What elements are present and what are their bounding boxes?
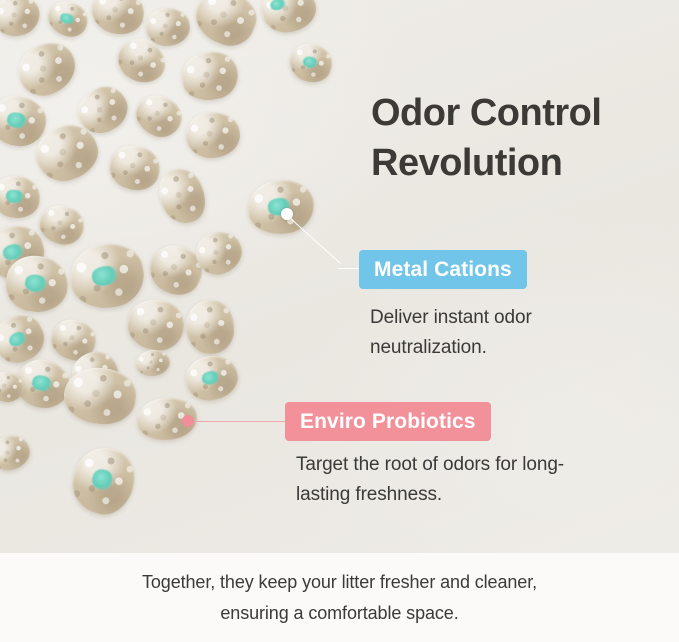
litter-granule xyxy=(0,0,44,40)
marker-dot-probiotics xyxy=(182,415,194,427)
footer-caption: Together, they keep your litter fresher … xyxy=(0,553,679,642)
litter-granule xyxy=(183,108,243,161)
footer-caption-line-1: Together, they keep your litter fresher … xyxy=(142,567,537,598)
litter-granule xyxy=(0,431,34,476)
litter-granule xyxy=(257,0,322,39)
litter-granule xyxy=(182,351,242,405)
litter-granule xyxy=(130,88,189,144)
litter-granule xyxy=(151,162,213,230)
litter-granule xyxy=(65,238,149,314)
litter-granule xyxy=(188,0,263,53)
page-title: Odor Control Revolution xyxy=(371,88,671,188)
marker-dot-cations xyxy=(281,208,293,220)
badge-enviro-probiotics-label: Enviro Probiotics xyxy=(300,410,476,434)
litter-granule xyxy=(10,34,83,103)
litter-granule xyxy=(184,298,236,355)
hero-photo-panel: Odor Control Revolution Metal Cations De… xyxy=(0,0,679,553)
badge-enviro-probiotics[interactable]: Enviro Probiotics xyxy=(285,402,491,441)
litter-granule xyxy=(123,295,188,356)
litter-granule xyxy=(178,48,241,105)
litter-granule xyxy=(0,174,42,221)
badge-metal-cations[interactable]: Metal Cations xyxy=(359,250,527,289)
litter-granule-highlighted-cations xyxy=(245,177,316,238)
litter-granule xyxy=(35,200,89,251)
odor-control-infographic: Odor Control Revolution Metal Cations De… xyxy=(0,0,679,642)
badge-metal-cations-label: Metal Cations xyxy=(374,258,512,282)
description-metal-cations: Deliver instant odor neutralization. xyxy=(370,303,630,363)
litter-granule xyxy=(44,0,93,41)
litter-granule xyxy=(286,39,336,86)
litter-granule xyxy=(105,140,165,196)
litter-granule xyxy=(134,348,171,378)
litter-granule xyxy=(89,0,147,37)
leader-line-probiotics xyxy=(190,421,288,422)
litter-granule xyxy=(66,441,142,521)
footer-caption-line-2: ensuring a comfortable space. xyxy=(220,598,458,629)
description-enviro-probiotics: Target the root of odors for long-lastin… xyxy=(296,450,586,510)
